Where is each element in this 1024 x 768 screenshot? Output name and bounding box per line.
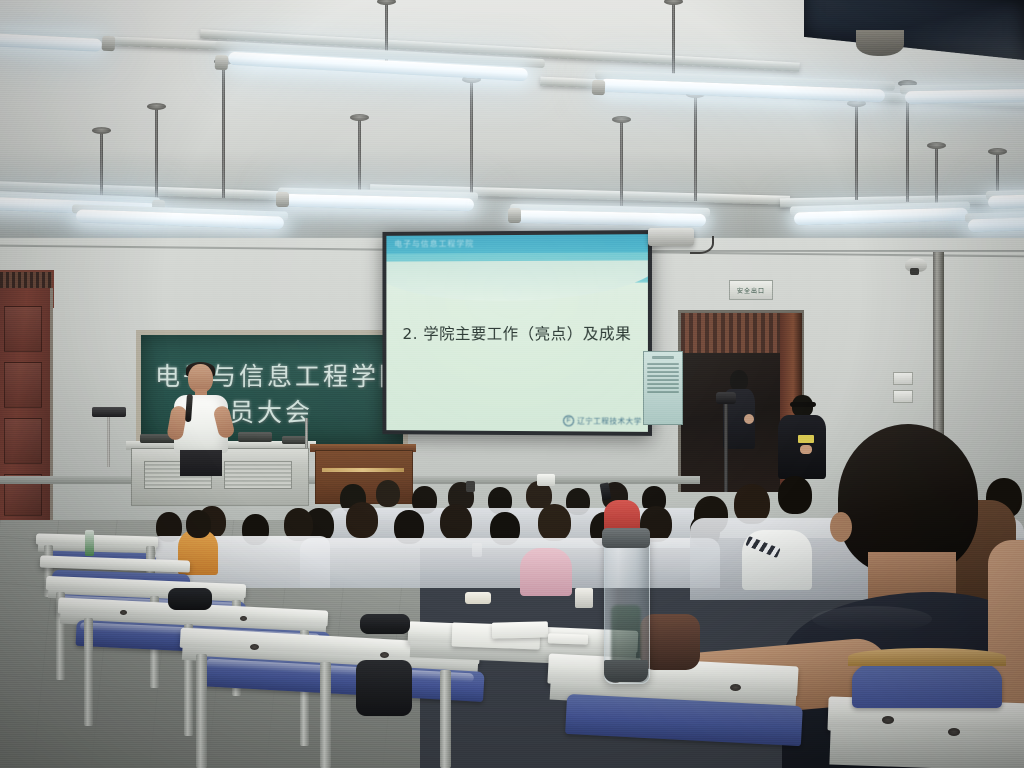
bag-under-desk: [356, 660, 412, 716]
desk-equipment: [238, 432, 272, 442]
light-end-cap: [276, 192, 289, 207]
loose-paper: [548, 633, 588, 644]
green-bottle: [85, 530, 94, 556]
mic-stand-icon: [305, 418, 308, 448]
head: [186, 510, 211, 538]
slide-footer: F 辽宁工程技术大学: [563, 415, 642, 427]
small-item-on-desk: [575, 588, 593, 608]
podium-trim: [322, 468, 404, 472]
ceiling-hanger-rod: [935, 146, 938, 206]
ceiling-hanger-rod: [155, 107, 158, 199]
wall-speaker-icon: [92, 407, 126, 417]
torso-group: [300, 538, 720, 588]
ceiling-hanger-rod: [694, 95, 697, 201]
ceiling-camera-icon: [905, 258, 927, 272]
bag-on-desk: [168, 588, 212, 610]
desk-leg[interactable]: [440, 670, 451, 768]
ceiling-hanger-rod: [855, 104, 858, 200]
notice-board: [643, 351, 683, 425]
exit-sign: 安全出口: [729, 280, 773, 300]
desk-bolt: [730, 684, 741, 691]
desk-leg[interactable]: [320, 662, 331, 768]
ceiling-hanger-rod: [470, 80, 473, 202]
ear: [830, 512, 852, 542]
slide-title-text: 2. 学院主要工作（亮点）及成果: [386, 234, 648, 432]
university-logo-icon: F: [563, 415, 574, 426]
head: [346, 502, 378, 538]
desk-bolt: [882, 716, 894, 724]
audience-mid-row: [300, 498, 720, 588]
speaker-presenter: [168, 364, 234, 476]
orange-marker: [465, 592, 491, 604]
desk-front-panel: [829, 726, 1024, 768]
wall-sensor-icon: [537, 474, 555, 486]
wall-sensor-icon: [466, 481, 475, 492]
wall-seam: [600, 250, 1024, 252]
camera-icon: [716, 392, 736, 404]
ceiling-hanger-rod: [222, 62, 225, 198]
desk-bolt: [240, 616, 247, 621]
chair-wood-trim: [848, 648, 1006, 666]
wall-speaker-stem: [107, 417, 110, 467]
head: [730, 370, 748, 391]
ceiling-light: [988, 194, 1024, 209]
presentation-slide: 电子与信息工程学院 2. 学院主要工作（亮点）及成果 F 辽宁工程技术大学: [386, 234, 648, 432]
desk-leg[interactable]: [196, 654, 207, 768]
classroom-photo: 电子与信息工程学院 动员大会 电子与信息工程学院 2. 学院主要工作（亮点）及成…: [0, 0, 1024, 768]
desk-leg[interactable]: [84, 618, 93, 726]
pink-shirt-person: [520, 548, 572, 596]
head: [440, 504, 472, 540]
shoulder-highlight: [812, 606, 932, 632]
notebook-page: [492, 621, 548, 638]
head: [538, 504, 571, 541]
ceiling-hanger-rod: [620, 120, 623, 206]
left-door[interactable]: [0, 288, 53, 533]
light-end-cap: [215, 55, 229, 71]
ceiling-duct: [856, 30, 904, 56]
projector-screen: 电子与信息工程学院 2. 学院主要工作（亮点）及成果 F 辽宁工程技术大学: [382, 230, 652, 436]
light-end-cap: [508, 208, 521, 223]
ceiling-light: [905, 89, 1024, 104]
cap-brim-icon: [790, 402, 816, 407]
hand: [744, 414, 754, 424]
projector-device: [648, 228, 694, 246]
light-end-cap: [102, 36, 116, 52]
light-switch-plate[interactable]: [893, 390, 913, 403]
ceiling-hanger-rod: [100, 131, 103, 197]
bottle-cap[interactable]: [602, 528, 650, 548]
desk-bolt: [380, 652, 389, 658]
bag-on-desk: [360, 614, 410, 634]
desk-bolt: [250, 644, 259, 650]
light-end-cap: [592, 80, 606, 95]
bottle-base: [604, 660, 648, 682]
right-door-transom: [681, 313, 783, 353]
bottle-contents: [611, 605, 641, 667]
legs: [180, 450, 222, 476]
slide-footer-university: 辽宁工程技术大学: [577, 415, 642, 426]
ceiling-hanger-rod: [358, 118, 361, 200]
desk-bolt: [120, 610, 127, 615]
desk-bolt: [948, 728, 960, 736]
exit-sign-text: 安全出口: [737, 286, 765, 295]
ceiling-light: [968, 217, 1024, 233]
light-switch-plate[interactable]: [893, 372, 913, 385]
